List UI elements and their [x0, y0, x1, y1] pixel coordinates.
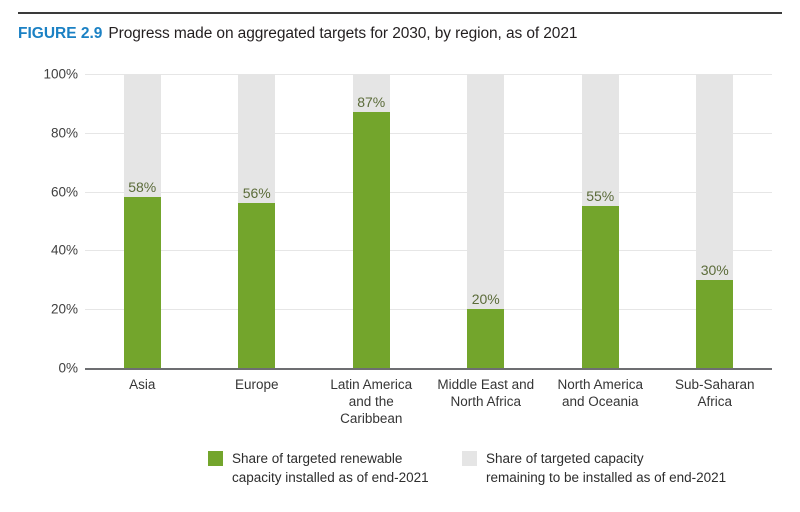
- legend-swatch-installed: [208, 451, 223, 466]
- legend-swatch-remaining: [462, 451, 477, 466]
- y-axis-tick-label: 80%: [10, 125, 78, 140]
- x-axis-category-line: Asia: [85, 376, 200, 393]
- bar-value-label: 20%: [472, 291, 500, 307]
- x-axis-line: [85, 368, 772, 370]
- legend-item-remaining[interactable]: Share of targeted capacity remaining to …: [462, 449, 726, 487]
- bar-segment-installed[interactable]: [582, 206, 619, 368]
- bar-value-label: 30%: [701, 262, 729, 278]
- x-axis-category-line: Europe: [200, 376, 315, 393]
- bar-segment-installed[interactable]: [467, 309, 504, 368]
- y-axis-tick-label: 100%: [10, 67, 78, 82]
- legend-label-remaining-line2: remaining to be installed as of end-2021: [486, 468, 726, 487]
- y-axis-tick-label: 60%: [10, 184, 78, 199]
- legend-item-installed[interactable]: Share of targeted renewable capacity ins…: [208, 449, 429, 487]
- bar-group[interactable]: 87%: [353, 74, 390, 368]
- y-axis-tick-label: 40%: [10, 243, 78, 258]
- x-axis-category-line: North America: [543, 376, 658, 393]
- x-axis-category-line: North Africa: [429, 393, 544, 410]
- chart-container: 100%80%60%40%20%0% 58%56%87%20%55%30% Sh…: [0, 0, 800, 512]
- x-axis-category-line: Middle East and: [429, 376, 544, 393]
- bar-group[interactable]: 58%: [124, 74, 161, 368]
- y-axis-tick-label: 20%: [10, 302, 78, 317]
- y-axis: 100%80%60%40%20%0%: [0, 0, 78, 512]
- bar-value-label: 55%: [586, 188, 614, 204]
- x-axis-category-label: Europe: [200, 376, 315, 393]
- legend-label-remaining-line1: Share of targeted capacity: [486, 449, 726, 468]
- chart-legend: Share of targeted renewable capacity ins…: [0, 449, 800, 499]
- bar-value-label: 58%: [128, 179, 156, 195]
- plot-area: 58%56%87%20%55%30%: [85, 74, 772, 368]
- bar-group[interactable]: 56%: [238, 74, 275, 368]
- x-axis-category-line: and Oceania: [543, 393, 658, 410]
- x-axis-category-label: Sub-SaharanAfrica: [658, 376, 773, 410]
- y-axis-tick-label: 0%: [10, 361, 78, 376]
- legend-label-installed-line1: Share of targeted renewable: [232, 449, 429, 468]
- x-axis-category-line: Africa: [658, 393, 773, 410]
- x-axis-category-label: North Americaand Oceania: [543, 376, 658, 410]
- bar-segment-installed[interactable]: [696, 280, 733, 368]
- bar-value-label: 87%: [357, 94, 385, 110]
- x-axis-category-line: Latin America: [314, 376, 429, 393]
- x-axis-category-line: and the: [314, 393, 429, 410]
- gridline: [85, 74, 772, 75]
- bar-segment-installed[interactable]: [353, 112, 390, 368]
- x-axis-category-label: Latin Americaand theCaribbean: [314, 376, 429, 427]
- legend-label-remaining: Share of targeted capacity remaining to …: [486, 449, 726, 487]
- bar-segment-installed[interactable]: [124, 197, 161, 368]
- gridline: [85, 250, 772, 251]
- x-axis-category-label: Middle East andNorth Africa: [429, 376, 544, 410]
- bar-group[interactable]: 30%: [696, 74, 733, 368]
- bar-group[interactable]: 20%: [467, 74, 504, 368]
- legend-label-installed-line2: capacity installed as of end-2021: [232, 468, 429, 487]
- x-axis-category-label: Asia: [85, 376, 200, 393]
- bar-segment-installed[interactable]: [238, 203, 275, 368]
- legend-label-installed: Share of targeted renewable capacity ins…: [232, 449, 429, 487]
- bar-group[interactable]: 55%: [582, 74, 619, 368]
- x-axis-category-line: Sub-Saharan: [658, 376, 773, 393]
- gridline: [85, 192, 772, 193]
- gridline: [85, 309, 772, 310]
- gridline: [85, 133, 772, 134]
- bar-value-label: 56%: [243, 185, 271, 201]
- x-axis-category-line: Caribbean: [314, 410, 429, 427]
